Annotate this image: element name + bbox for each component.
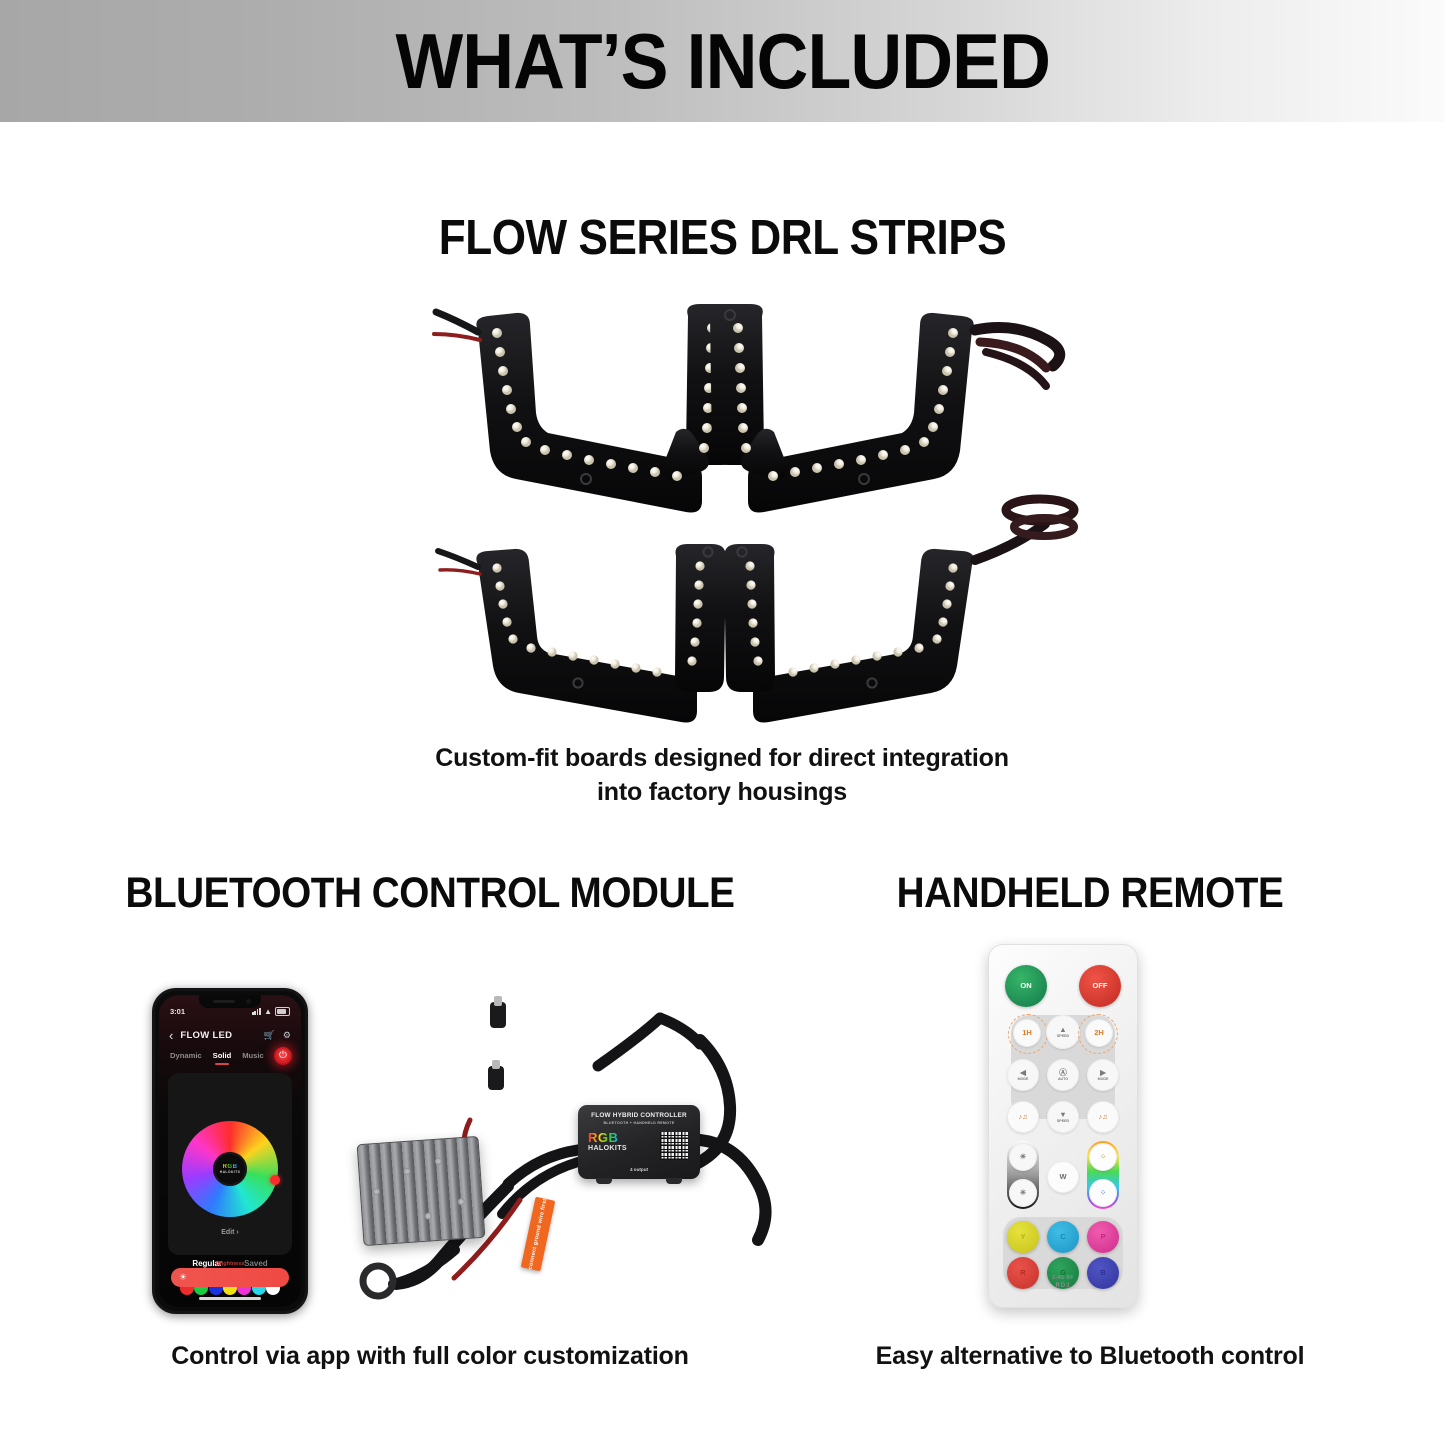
wheel-brand-logo: RGB HALOKITS: [220, 1164, 241, 1174]
sun-icon: ☀: [1020, 1189, 1027, 1197]
remote-fade-button[interactable]: ⁘: [1089, 1179, 1117, 1207]
page-title: WHAT’S INCLUDED: [395, 22, 1050, 100]
phone-screen: 3:01 ▲ ‹ FLOW LED 🛒 ⚙ Dynamic Solid Musi…: [159, 995, 301, 1307]
sun-icon: ☀: [1020, 1153, 1027, 1161]
ground-wire-warning-tag: connect ground wire first: [521, 1197, 556, 1272]
remote-mode-next-button[interactable]: ▶ MODE: [1087, 1059, 1119, 1091]
screw-icon: [458, 1198, 465, 1205]
brightness-label: Brightness: [159, 1261, 301, 1267]
remote-color-purple-button[interactable]: P: [1087, 1221, 1119, 1253]
bluetooth-section-caption: Control via app with full color customiz…: [60, 1340, 800, 1374]
remote-brightness-down-button[interactable]: ☀: [1009, 1179, 1037, 1207]
qr-code-icon: [660, 1132, 688, 1160]
page-header: WHAT’S INCLUDED: [0, 0, 1445, 122]
screw-icon: [425, 1212, 432, 1219]
brand-halokits-text: HALOKITS: [588, 1145, 627, 1152]
color-wheel[interactable]: RGB HALOKITS: [182, 1121, 278, 1217]
battery-icon: [275, 1007, 290, 1016]
remote-footer: 2.4G RF RD3: [989, 1275, 1137, 1289]
remote-color-cyan-button[interactable]: C: [1047, 1221, 1079, 1253]
drl-harness-bottom-right: [975, 499, 1074, 560]
controller-output-label: 4 output: [578, 1167, 700, 1172]
drl-strip-top-left: [434, 304, 740, 513]
phone-mockup: 3:01 ▲ ‹ FLOW LED 🛒 ⚙ Dynamic Solid Musi…: [152, 988, 308, 1314]
bluetooth-section-title: BLUETOOTH CONTROL MODULE: [97, 872, 763, 915]
tab-dynamic[interactable]: Dynamic: [170, 1051, 202, 1060]
ground-wire-warning-text: connect ground wire first: [528, 1198, 549, 1270]
remote-mode-prev-button[interactable]: ◀ MODE: [1007, 1059, 1039, 1091]
remote-model-label: RD3: [989, 1283, 1137, 1289]
power-button[interactable]: ⏻: [274, 1047, 292, 1065]
brightness-slider[interactable]: ☀: [171, 1268, 289, 1287]
remote-section-caption: Easy alternative to Bluetooth control: [790, 1340, 1390, 1374]
controller-title: FLOW HYBRID CONTROLLER: [578, 1112, 700, 1119]
front-camera-icon: [246, 999, 251, 1004]
remote-frequency-label: 2.4G RF: [989, 1275, 1137, 1281]
drl-section-title: FLOW SERIES DRL STRIPS: [72, 214, 1373, 263]
remote-music-1-button[interactable]: ♪♫: [1007, 1101, 1039, 1133]
back-arrow-icon[interactable]: ‹: [169, 1029, 173, 1042]
remote-on-button[interactable]: ON: [1005, 965, 1047, 1007]
gear-icon[interactable]: ⚙: [283, 1030, 291, 1041]
edit-link[interactable]: Edit ›: [168, 1229, 292, 1236]
controller-brand-logo: RGB HALOKITS: [588, 1131, 627, 1152]
remote-color-yellow-button[interactable]: Y: [1007, 1221, 1039, 1253]
mounting-tab: [666, 1178, 682, 1184]
app-screen-title: FLOW LED: [180, 1030, 232, 1041]
remote-flash-button[interactable]: ⁘: [1089, 1143, 1117, 1171]
app-header: ‹ FLOW LED 🛒 ⚙: [159, 1025, 301, 1045]
brand-halokits-text: HALOKITS: [220, 1170, 241, 1174]
drl-section-caption: Custom-fit boards designed for direct in…: [322, 742, 1122, 810]
remote-2h-button[interactable]: 2H: [1085, 1019, 1113, 1047]
voltage-converter-module: [357, 1136, 486, 1246]
handheld-remote: ON OFF 1H ▲ SPEED 2H ◀ MODE Ⓐ AUTO ▶ MOD…: [988, 944, 1138, 1308]
status-time: 3:01: [170, 1007, 185, 1016]
remote-section-title: HANDHELD REMOTE: [820, 872, 1360, 915]
tab-music[interactable]: Music: [242, 1051, 264, 1060]
sun-icon: ☀: [179, 1273, 187, 1282]
phone-notch: [199, 995, 261, 1008]
mounting-tab: [596, 1178, 612, 1184]
screw-icon: [403, 1168, 410, 1175]
remote-music-2-button[interactable]: ♪♫: [1087, 1101, 1119, 1133]
color-wheel-handle[interactable]: [270, 1175, 280, 1185]
controller-subtitle: BLUETOOTH + HANDHELD REMOTE: [578, 1121, 700, 1125]
remote-speed-up-button[interactable]: ▲ SPEED: [1046, 1015, 1080, 1049]
remote-auto-button[interactable]: Ⓐ AUTO: [1047, 1059, 1079, 1091]
cart-icon[interactable]: 🛒: [264, 1030, 275, 1041]
earpiece-speaker: [213, 1000, 235, 1003]
brand-rgb-text: RGB: [588, 1131, 627, 1144]
remote-white-button[interactable]: W: [1047, 1161, 1079, 1193]
remote-speed-down-button[interactable]: ▼ SPEED: [1047, 1101, 1079, 1133]
wifi-icon: ▲: [264, 1007, 272, 1016]
screw-icon: [373, 1188, 380, 1195]
remote-1h-button[interactable]: 1H: [1013, 1019, 1041, 1047]
tab-solid[interactable]: Solid: [213, 1051, 232, 1060]
drl-strip-bottom-right: [724, 544, 974, 723]
signal-icon: [252, 1008, 261, 1015]
remote-brightness-up-button[interactable]: ☀: [1009, 1143, 1037, 1171]
remote-off-button[interactable]: OFF: [1079, 965, 1121, 1007]
home-indicator: [199, 1297, 261, 1300]
drl-harness-top-right: [975, 328, 1060, 386]
drl-strip-bottom-left: [438, 544, 726, 723]
flow-hybrid-controller: FLOW HYBRID CONTROLLER BLUETOOTH + HANDH…: [578, 1105, 700, 1179]
color-panel: RGB HALOKITS Edit › Regular Saved: [168, 1073, 292, 1255]
drl-strip-top-right: [710, 304, 974, 513]
screw-icon: [435, 1157, 442, 1164]
